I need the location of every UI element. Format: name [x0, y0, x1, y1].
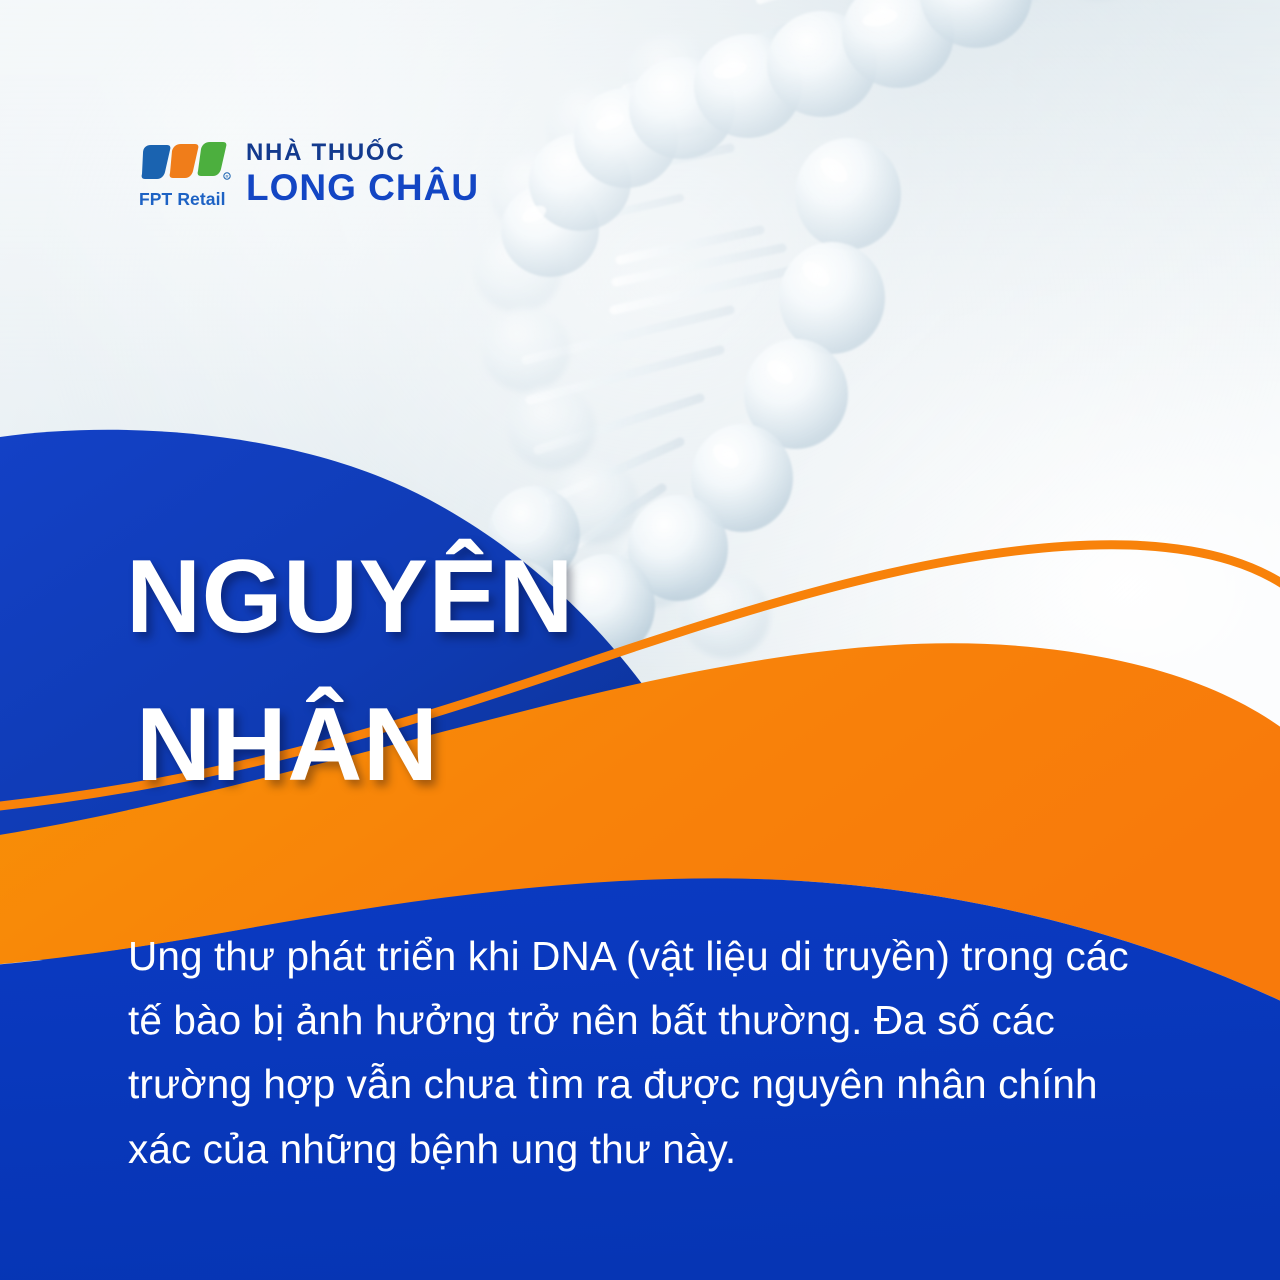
body-paragraph: Ung thư phát triển khi DNA (vật liệu di …: [128, 924, 1168, 1181]
fpt-retail-tri-stripe-icon: R: [139, 139, 231, 185]
svg-text:R: R: [225, 174, 228, 179]
headline-line-2: NHÂN: [136, 672, 686, 820]
logo-fpt-retail-text: FPT Retail: [139, 191, 231, 209]
headline-line-1: NGUYÊN: [126, 524, 686, 672]
logo-wordmark: NHÀ THUỐC LONG CHÂU: [246, 139, 479, 208]
brand-logo: R FPT Retail NHÀ THUỐC LONG CHÂU: [139, 139, 479, 209]
headline: NGUYÊN NHÂN: [126, 524, 686, 819]
poster-canvas: R FPT Retail NHÀ THUỐC LONG CHÂU NGUYÊN …: [0, 0, 1280, 1280]
logo-line-nha-thuoc: NHÀ THUỐC: [246, 140, 479, 167]
logo-mark-group: R FPT Retail: [139, 139, 231, 209]
logo-line-long-chau: LONG CHÂU: [246, 169, 479, 208]
body-copy: Ung thư phát triển khi DNA (vật liệu di …: [128, 924, 1168, 1181]
